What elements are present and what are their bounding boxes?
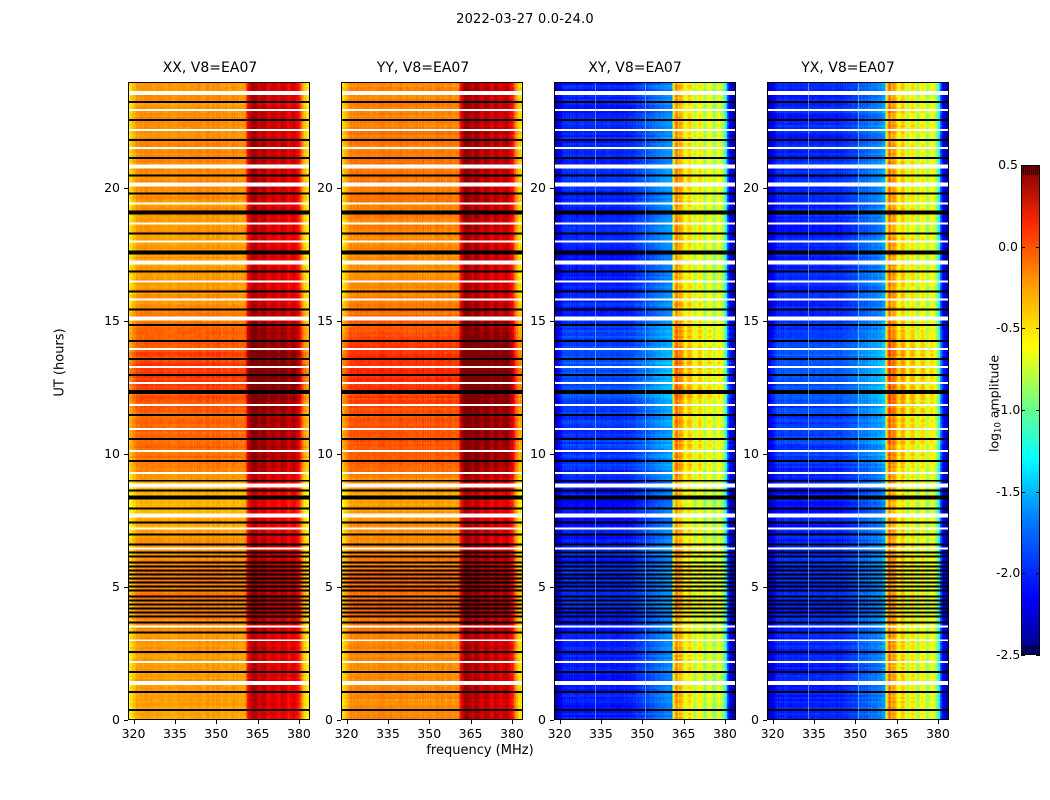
y-tickmark: [337, 321, 341, 322]
x-tickmark: [897, 720, 898, 724]
y-tick-label: 20: [299, 180, 333, 195]
heatmap-panel-yx[interactable]: [767, 82, 949, 720]
artifact-line: [808, 83, 809, 719]
colorbar-tickmark: [1021, 655, 1025, 656]
x-tick-label: 350: [835, 726, 875, 741]
x-tick-label: 380: [705, 726, 745, 741]
y-tick-label: 20: [512, 180, 546, 195]
colorbar-tickmark: [1021, 165, 1025, 166]
y-tickmark: [550, 720, 554, 721]
artifact-line: [858, 83, 859, 719]
x-axis-label: frequency (MHz): [330, 743, 630, 758]
x-tickmark: [938, 720, 939, 724]
panel-title-xy: XY, V8=EA07: [533, 60, 737, 76]
x-tickmark: [684, 720, 685, 724]
y-tickmark: [763, 720, 767, 721]
y-tickmark: [124, 587, 128, 588]
colorbar-over-cap: [1022, 166, 1039, 175]
x-tick-label: 320: [114, 726, 154, 741]
colorbar-under-cap: [1022, 645, 1039, 654]
x-tickmark: [642, 720, 643, 724]
x-tick-label: 380: [918, 726, 958, 741]
figure-canvas: 2022-03-27 0.0-24.0 XX, V8=EA07 YY, V8=E…: [0, 0, 1050, 800]
y-axis-label: UT (hours): [53, 303, 68, 423]
heatmap-panel-xy[interactable]: [554, 82, 736, 720]
x-tick-label: 335: [581, 726, 621, 741]
y-tickmark: [550, 454, 554, 455]
x-tickmark: [175, 720, 176, 724]
x-tickmark: [601, 720, 602, 724]
x-tick-label: 350: [622, 726, 662, 741]
y-tickmark: [550, 587, 554, 588]
x-tickmark: [347, 720, 348, 724]
colorbar-tickmark: [1021, 492, 1025, 493]
y-tick-label: 15: [725, 313, 759, 328]
y-tick-label: 5: [86, 579, 120, 594]
x-tick-label: 365: [877, 726, 917, 741]
y-tick-label: 0: [299, 712, 333, 727]
colorbar-tickmark: [1036, 655, 1040, 656]
colorbar-tick-label: -2.0: [996, 565, 1018, 580]
colorbar-tickmark: [1036, 328, 1040, 329]
x-tickmark: [560, 720, 561, 724]
y-tick-label: 0: [725, 712, 759, 727]
colorbar-tickmark: [1036, 247, 1040, 248]
x-tick-label: 365: [451, 726, 491, 741]
y-tick-label: 15: [86, 313, 120, 328]
heatmap-image-yy: [342, 83, 522, 719]
y-tickmark: [337, 188, 341, 189]
figure-suptitle: 2022-03-27 0.0-24.0: [0, 12, 1050, 27]
colorbar-tick-label: 0.0: [996, 239, 1018, 254]
y-tickmark: [763, 454, 767, 455]
colorbar-tickmark: [1021, 328, 1025, 329]
x-tickmark: [773, 720, 774, 724]
colorbar-label: log10 amplitude: [987, 314, 1004, 494]
panel-title-yy: YY, V8=EA07: [321, 60, 525, 76]
y-tickmark: [550, 188, 554, 189]
x-tick-label: 335: [794, 726, 834, 741]
y-tick-label: 10: [512, 446, 546, 461]
colorbar-tick-label: 0.5: [996, 157, 1018, 172]
x-tickmark: [258, 720, 259, 724]
y-tickmark: [550, 321, 554, 322]
x-tick-label: 335: [368, 726, 408, 741]
y-tick-label: 20: [86, 180, 120, 195]
colorbar-tickmark: [1036, 573, 1040, 574]
y-tickmark: [337, 720, 341, 721]
x-tickmark: [814, 720, 815, 724]
x-tick-label: 320: [753, 726, 793, 741]
y-tickmark: [124, 454, 128, 455]
y-tick-label: 0: [512, 712, 546, 727]
y-tick-label: 5: [299, 579, 333, 594]
colorbar-tickmark: [1036, 165, 1040, 166]
heatmap-image-xx: [129, 83, 309, 719]
y-tick-label: 5: [512, 579, 546, 594]
y-tickmark: [763, 188, 767, 189]
y-tickmark: [337, 587, 341, 588]
x-tickmark: [471, 720, 472, 724]
x-tickmark: [216, 720, 217, 724]
y-tick-label: 5: [725, 579, 759, 594]
y-tick-label: 10: [725, 446, 759, 461]
y-tickmark: [763, 587, 767, 588]
x-tick-label: 320: [327, 726, 367, 741]
x-tick-label: 380: [492, 726, 532, 741]
y-tickmark: [124, 321, 128, 322]
x-tickmark: [855, 720, 856, 724]
colorbar-tickmark: [1021, 410, 1025, 411]
colorbar-tickmark: [1021, 247, 1025, 248]
colorbar-tickmark: [1036, 410, 1040, 411]
y-tickmark: [124, 720, 128, 721]
x-tick-label: 380: [279, 726, 319, 741]
artifact-line: [645, 83, 646, 719]
x-tickmark: [429, 720, 430, 724]
x-tick-label: 365: [238, 726, 278, 741]
panel-title-xx: XX, V8=EA07: [108, 60, 312, 76]
colorbar-tick-label: -2.5: [996, 647, 1018, 662]
x-tick-label: 350: [196, 726, 236, 741]
artifact-line: [595, 83, 596, 719]
x-tickmark: [134, 720, 135, 724]
x-tickmark: [388, 720, 389, 724]
y-tick-label: 20: [725, 180, 759, 195]
colorbar-tickmark: [1036, 492, 1040, 493]
y-tickmark: [124, 188, 128, 189]
x-tick-label: 365: [664, 726, 704, 741]
x-tick-label: 350: [409, 726, 449, 741]
colorbar-tickmark: [1021, 573, 1025, 574]
y-tick-label: 15: [512, 313, 546, 328]
heatmap-panel-xx[interactable]: [128, 82, 310, 720]
heatmap-panel-yy[interactable]: [341, 82, 523, 720]
panel-title-yx: YX, V8=EA07: [746, 60, 950, 76]
colorbar-label-text: log10 amplitude: [987, 355, 1002, 452]
x-tick-label: 335: [155, 726, 195, 741]
y-tick-label: 10: [299, 446, 333, 461]
y-tickmark: [763, 321, 767, 322]
y-tickmark: [337, 454, 341, 455]
y-tick-label: 15: [299, 313, 333, 328]
y-tick-label: 10: [86, 446, 120, 461]
x-tick-label: 320: [540, 726, 580, 741]
y-tick-label: 0: [86, 712, 120, 727]
